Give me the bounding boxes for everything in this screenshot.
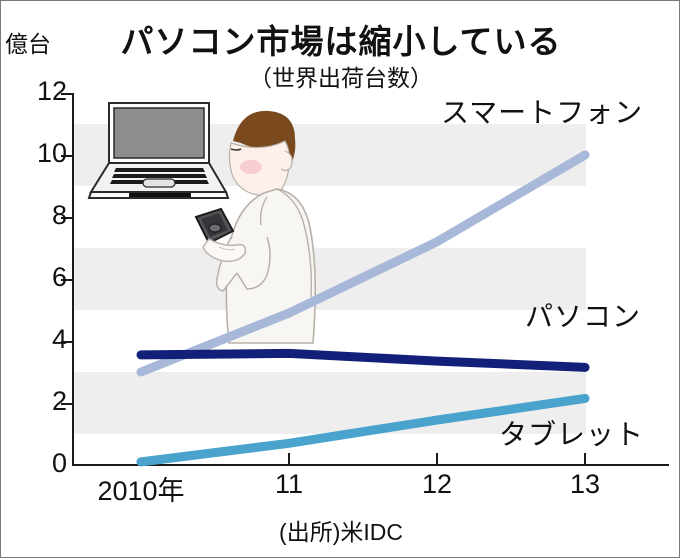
chart-figure: 億台 パソコン市場は縮小している （世界出荷台数） [0,0,680,558]
y-tick-label-12: 12 [7,78,67,105]
x-axis-line [72,464,669,466]
y-tick-label-6: 6 [7,264,67,291]
x-tick-label-2010: 2010年 [61,469,221,508]
illustration-laptop-and-person [81,97,331,347]
laptop-icon [89,103,228,198]
series-label-tablet: タブレット [499,413,644,453]
y-tick-label-4: 4 [7,326,67,353]
y-tick-label-2: 2 [7,388,67,415]
x-tick-2013 [584,453,586,465]
y-tick-label-8: 8 [7,202,67,229]
x-tick-label-2011: 11 [249,469,329,500]
y-tick-label-10: 10 [7,140,67,167]
x-tick-2012 [436,453,438,465]
chart-source: (出所)米IDC [1,513,680,547]
series-label-smartphone: スマートフォン [441,91,643,131]
chart-subtitle: （世界出荷台数） [1,59,680,93]
person-with-smartphone-icon [196,111,315,343]
x-tick-2011 [288,453,290,465]
chart-title: パソコン市場は縮小している [1,15,680,63]
series-label-pc: パソコン [525,295,641,335]
x-tick-label-2013: 13 [545,469,625,500]
x-tick-label-2012: 12 [397,469,477,500]
y-tick-label-0: 0 [7,450,67,477]
